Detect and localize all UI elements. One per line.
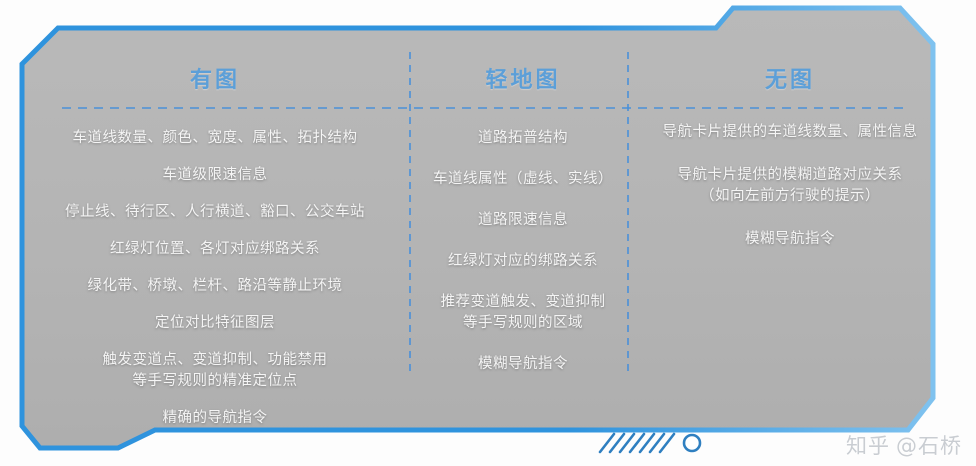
column-wutu: 导航卡片提供的车道线数量、属性信息 导航卡片提供的模糊道路对应关系 （如向左前方…	[640, 122, 940, 272]
list-item: 红绿灯位置、各灯对应绑路关系	[30, 239, 400, 260]
list-item: 道路限速信息	[418, 210, 628, 231]
column-header-wutu: 无图	[640, 62, 940, 94]
list-item: 模糊导航指令	[640, 229, 940, 250]
column-header-qingditu: 轻地图	[418, 62, 628, 94]
list-item: 车道线属性（虚线、实线）	[418, 169, 628, 190]
list-item: 红绿灯对应的绑路关系	[418, 251, 628, 272]
list-item: 车道线数量、颜色、宽度、属性、拓扑结构	[30, 128, 400, 149]
column-youtu: 车道线数量、颜色、宽度、属性、拓扑结构 车道级限速信息 停止线、待行区、人行横道…	[30, 128, 400, 445]
list-item: 推荐变道触发、变道抑制 等手写规则的区域	[418, 292, 628, 334]
list-item: 车道级限速信息	[30, 165, 400, 186]
list-item: 触发变道点、变道抑制、功能禁用 等手写规则的精准定位点	[30, 350, 400, 392]
list-item: 模糊导航指令	[418, 354, 628, 375]
column-header-youtu: 有图	[30, 62, 400, 94]
list-item: 绿化带、桥墩、栏杆、路沿等静止环境	[30, 276, 400, 297]
screenshot-root: 有图 轻地图 无图 车道线数量、颜色、宽度、属性、拓扑结构 车道级限速信息 停止…	[0, 0, 976, 466]
list-item: 停止线、待行区、人行横道、豁口、公交车站	[30, 202, 400, 223]
list-item: 导航卡片提供的模糊道路对应关系 （如向左前方行驶的提示）	[640, 165, 940, 207]
list-item: 道路拓普结构	[418, 128, 628, 149]
panel-content: 有图 轻地图 无图 车道线数量、颜色、宽度、属性、拓扑结构 车道级限速信息 停止…	[0, 0, 976, 466]
column-qingditu: 道路拓普结构 车道线属性（虚线、实线） 道路限速信息 红绿灯对应的绑路关系 推荐…	[418, 128, 628, 395]
list-item: 导航卡片提供的车道线数量、属性信息	[640, 122, 940, 143]
list-item: 精确的导航指令	[30, 408, 400, 429]
list-item: 定位对比特征图层	[30, 313, 400, 334]
watermark-handle: @石桥	[896, 434, 962, 458]
watermark: 知乎@石桥	[846, 430, 962, 460]
watermark-platform: 知乎	[846, 434, 890, 458]
